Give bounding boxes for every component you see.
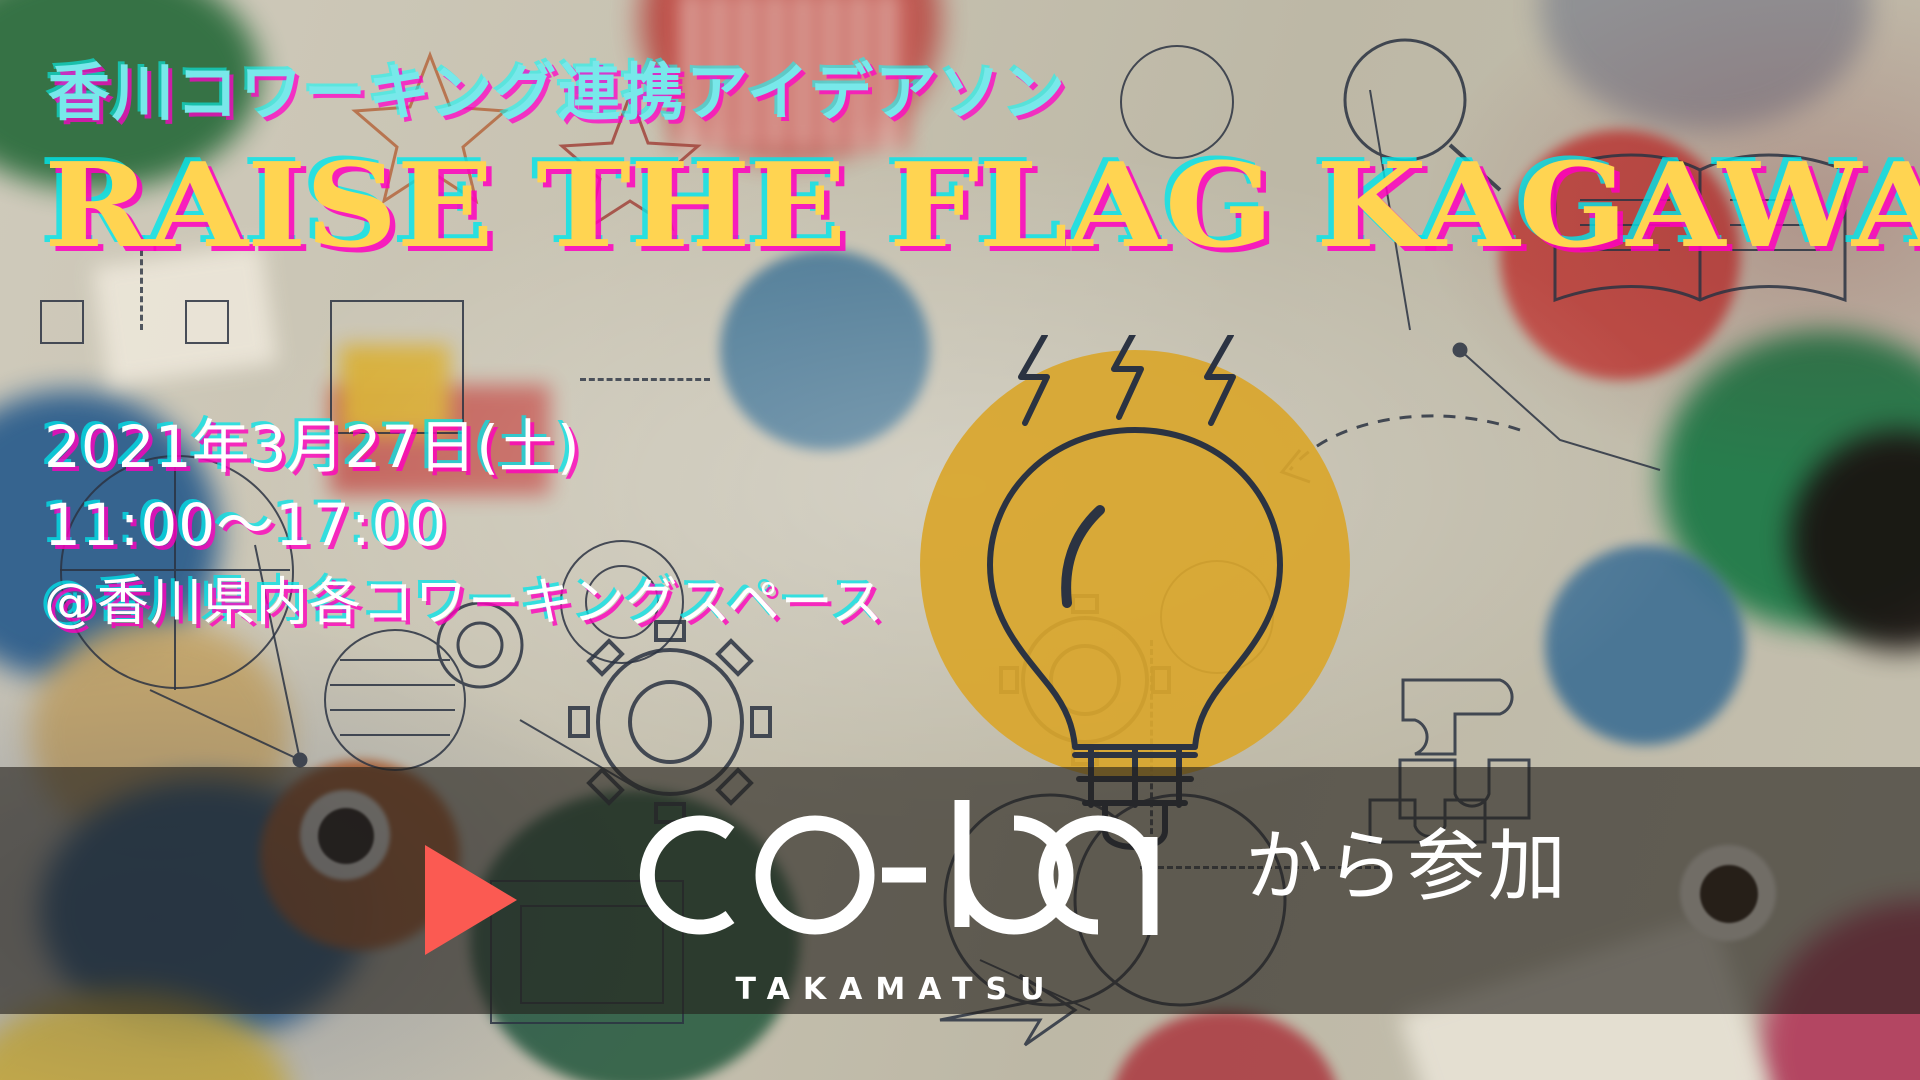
coba-logo-wordmark [610,795,1170,955]
doodle-puzzle-piece-a [1403,680,1512,754]
doodle-connector-a [150,690,300,760]
coba-logo-subtitle: TAKAMATSU [610,972,1170,1007]
event-poster: 香川コワーキング連携アイデアソン RAISE THE FLAG KAGAWA 2… [0,0,1920,1080]
lightbulb-glow [920,350,1350,780]
poster-kicker: 香川コワーキング連携アイデアソン [48,62,1067,124]
doodle-node-a [294,754,306,766]
event-venue: @香川県内各コワーキングスペース [44,564,884,642]
event-date: 2021年3月27日(土) [44,408,884,486]
doodle-hatched-circle [325,630,465,770]
play-triangle-icon[interactable] [425,845,517,955]
cta-text: から参加 [1245,828,1569,906]
poster-details: 2021年3月27日(土) 11:00〜17:00 @香川県内各コワーキングスペ… [44,408,884,642]
poster-title: RAISE THE FLAG KAGAWA [44,148,1920,264]
doodle-hatch-lines [330,660,455,735]
doodle-node-b [1454,344,1466,356]
coba-letter-o [763,823,867,927]
coba-letter-c [647,823,730,927]
doodle-connector-c [1460,350,1660,470]
event-time: 11:00〜17:00 [44,486,884,564]
